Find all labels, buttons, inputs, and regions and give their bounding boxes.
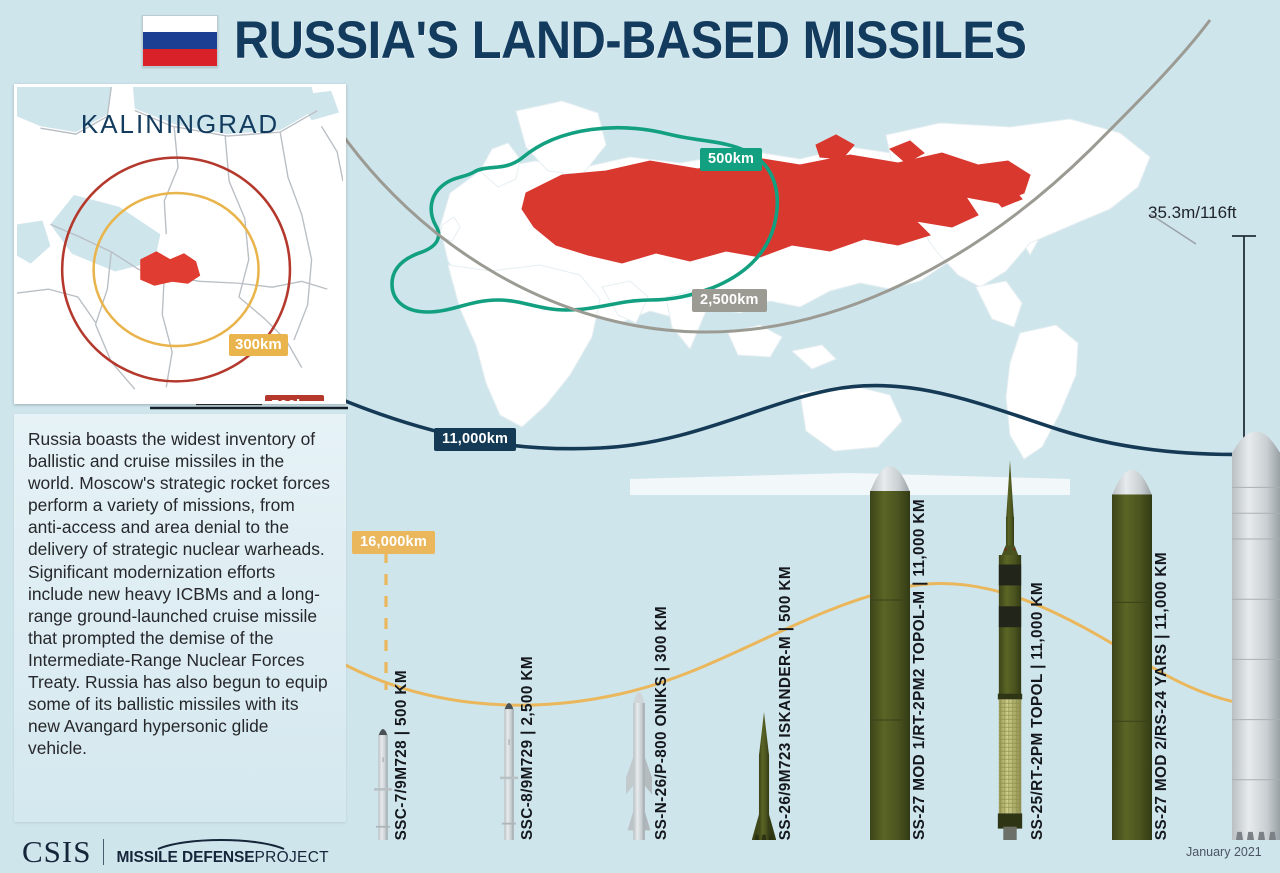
ring-label-500km: 500km (265, 395, 324, 404)
missile-ss-n-26-label: SS-N-26/P-800 ONIKS | 300 KM (654, 606, 669, 840)
missile-ss-26[interactable]: SS-26/9M723 ISKANDER-M | 500 KM (752, 566, 793, 840)
missile-comparison-row: SSC-7/9M728 | 500 KMSSC-8/9M729 | 2,500 … (360, 200, 1260, 840)
missile-ss-19[interactable]: SS-19/UR-100N | 10,000 KM (1232, 410, 1280, 840)
description-text: Russia boasts the widest inventory of ba… (28, 428, 330, 759)
missile-ssc-7[interactable]: SSC-7/9M728 | 500 KM (374, 670, 409, 840)
infographic-canvas: 500km 2,500km 11,000km 16,000km RUSSIA'S… (0, 0, 1280, 873)
description-panel: Russia boasts the widest inventory of ba… (14, 414, 346, 822)
project-wordmark: MISSILE DEFENSEPROJECT (116, 849, 328, 867)
title-row: RUSSIA'S LAND-BASED MISSILES (142, 10, 1095, 71)
missile-ssc-7-figure (374, 722, 392, 840)
missile-ssc-8-label: SSC-8/9M729 | 2,500 KM (520, 656, 535, 840)
logo-arc-icon (156, 837, 286, 851)
project-bold-text: MISSILE DEFENSE (116, 849, 254, 866)
missile-ssc-7-label: SSC-7/9M728 | 500 KM (394, 670, 409, 840)
missile-ss-n-26[interactable]: SS-N-26/P-800 ONIKS | 300 KM (626, 606, 669, 840)
missile-ss-26-figure (752, 712, 776, 840)
missile-ss-27-m1[interactable]: SS-27 MOD 1/RT-2PM2 TOPOL-M | 11,000 KM (870, 440, 927, 840)
footer-logo: CSIS MISSILE DEFENSEPROJECT (22, 834, 329, 870)
inset-title: KALININGRAD (17, 109, 343, 140)
missile-ss-27-m2-figure (1112, 444, 1152, 840)
missile-ssc-8-figure (500, 696, 518, 840)
project-thin-text: PROJECT (255, 849, 329, 866)
missile-ss-27-m2[interactable]: SS-27 MOD 2/RS-24 YARS | 11,000 KM (1112, 444, 1169, 840)
missile-ssc-8[interactable]: SSC-8/9M729 | 2,500 KM (500, 656, 535, 840)
missile-ss-27-m1-label: SS-27 MOD 1/RT-2PM2 TOPOL-M | 11,000 KM (912, 499, 927, 840)
page-title: RUSSIA'S LAND-BASED MISSILES (234, 10, 1026, 71)
logo-divider (103, 839, 104, 865)
missile-ss-25-figure (992, 460, 1028, 840)
csis-wordmark: CSIS (22, 834, 91, 870)
missile-ss-27-m2-label: SS-27 MOD 2/RS-24 YARS | 11,000 KM (1154, 552, 1169, 840)
ring-label-300km: 300km (229, 334, 288, 356)
missile-ss-19-figure (1232, 410, 1280, 840)
missile-ss-n-26-figure (626, 680, 652, 840)
range-label-500km: 500km (700, 148, 762, 171)
missile-ss-25-label: SS-25/RT-2PM TOPOL | 11,000 KM (1030, 582, 1045, 840)
missile-ss-25[interactable]: SS-25/RT-2PM TOPOL | 11,000 KM (992, 460, 1045, 840)
missile-ss-26-label: SS-26/9M723 ISKANDER-M | 500 KM (778, 566, 793, 840)
russia-flag-icon (142, 15, 218, 67)
kaliningrad-inset-map: KALININGRAD 300km 500km (14, 84, 346, 404)
missile-ss-27-m1-figure (870, 440, 910, 840)
date-annotation: January 2021 (1186, 845, 1262, 859)
